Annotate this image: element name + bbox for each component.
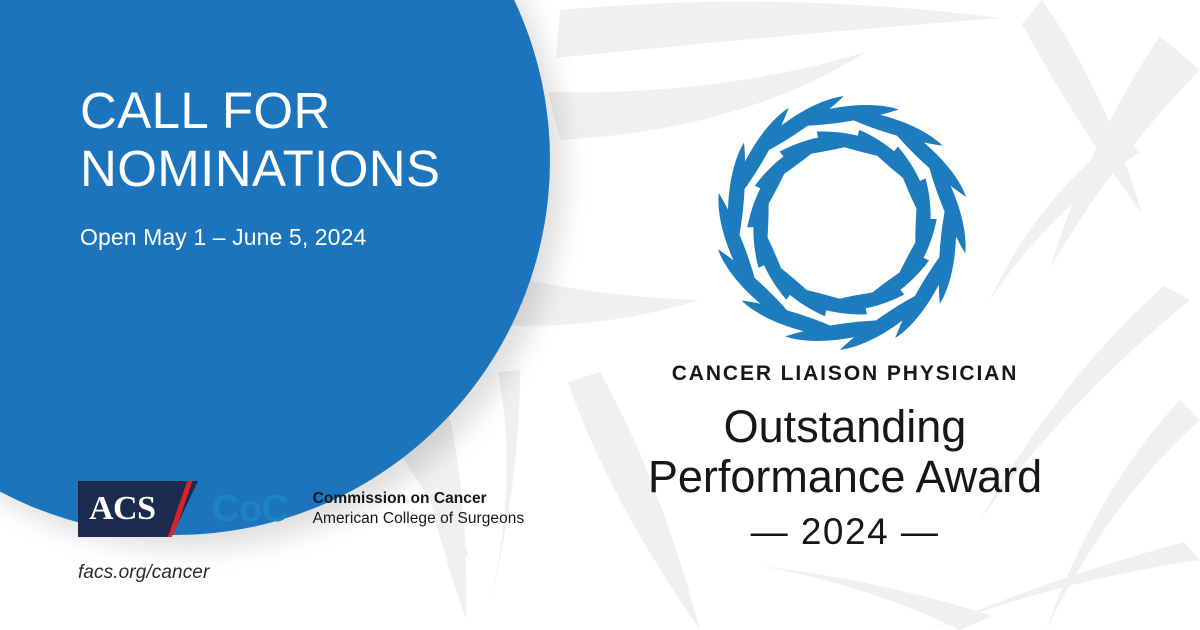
promo-graphic: CALL FOR NOMINATIONS Open May 1 – June 5… [0,0,1200,630]
acs-coc-logo[interactable]: ACS CoC Commission on Cancer American Co… [78,481,524,537]
acs-wordmark: ACS [78,492,156,526]
acs-badge: ACS [78,481,198,537]
org-primary-name: Commission on Cancer [313,489,525,509]
award-eyebrow: CANCER LIAISON PHYSICIAN [600,362,1090,386]
award-year: — 2024 — [600,511,1090,553]
blue-hero-circle [0,0,550,535]
site-url[interactable]: facs.org/cancer [78,562,209,584]
red-slash-icon [166,481,193,537]
coc-wordmark: CoC [198,481,289,537]
promo-subhead: Open May 1 – June 5, 2024 [80,224,510,251]
organization-names: Commission on Cancer American College of… [289,481,525,537]
award-title: Outstanding Performance Award [600,402,1090,503]
promo-headline: CALL FOR NOMINATIONS [80,82,510,198]
promo-copy: CALL FOR NOMINATIONS Open May 1 – June 5… [80,82,510,251]
laurel-wreath-icon [692,78,992,368]
org-secondary-name: American College of Surgeons [313,509,525,529]
award-text-block: CANCER LIAISON PHYSICIAN Outstanding Per… [600,362,1090,553]
